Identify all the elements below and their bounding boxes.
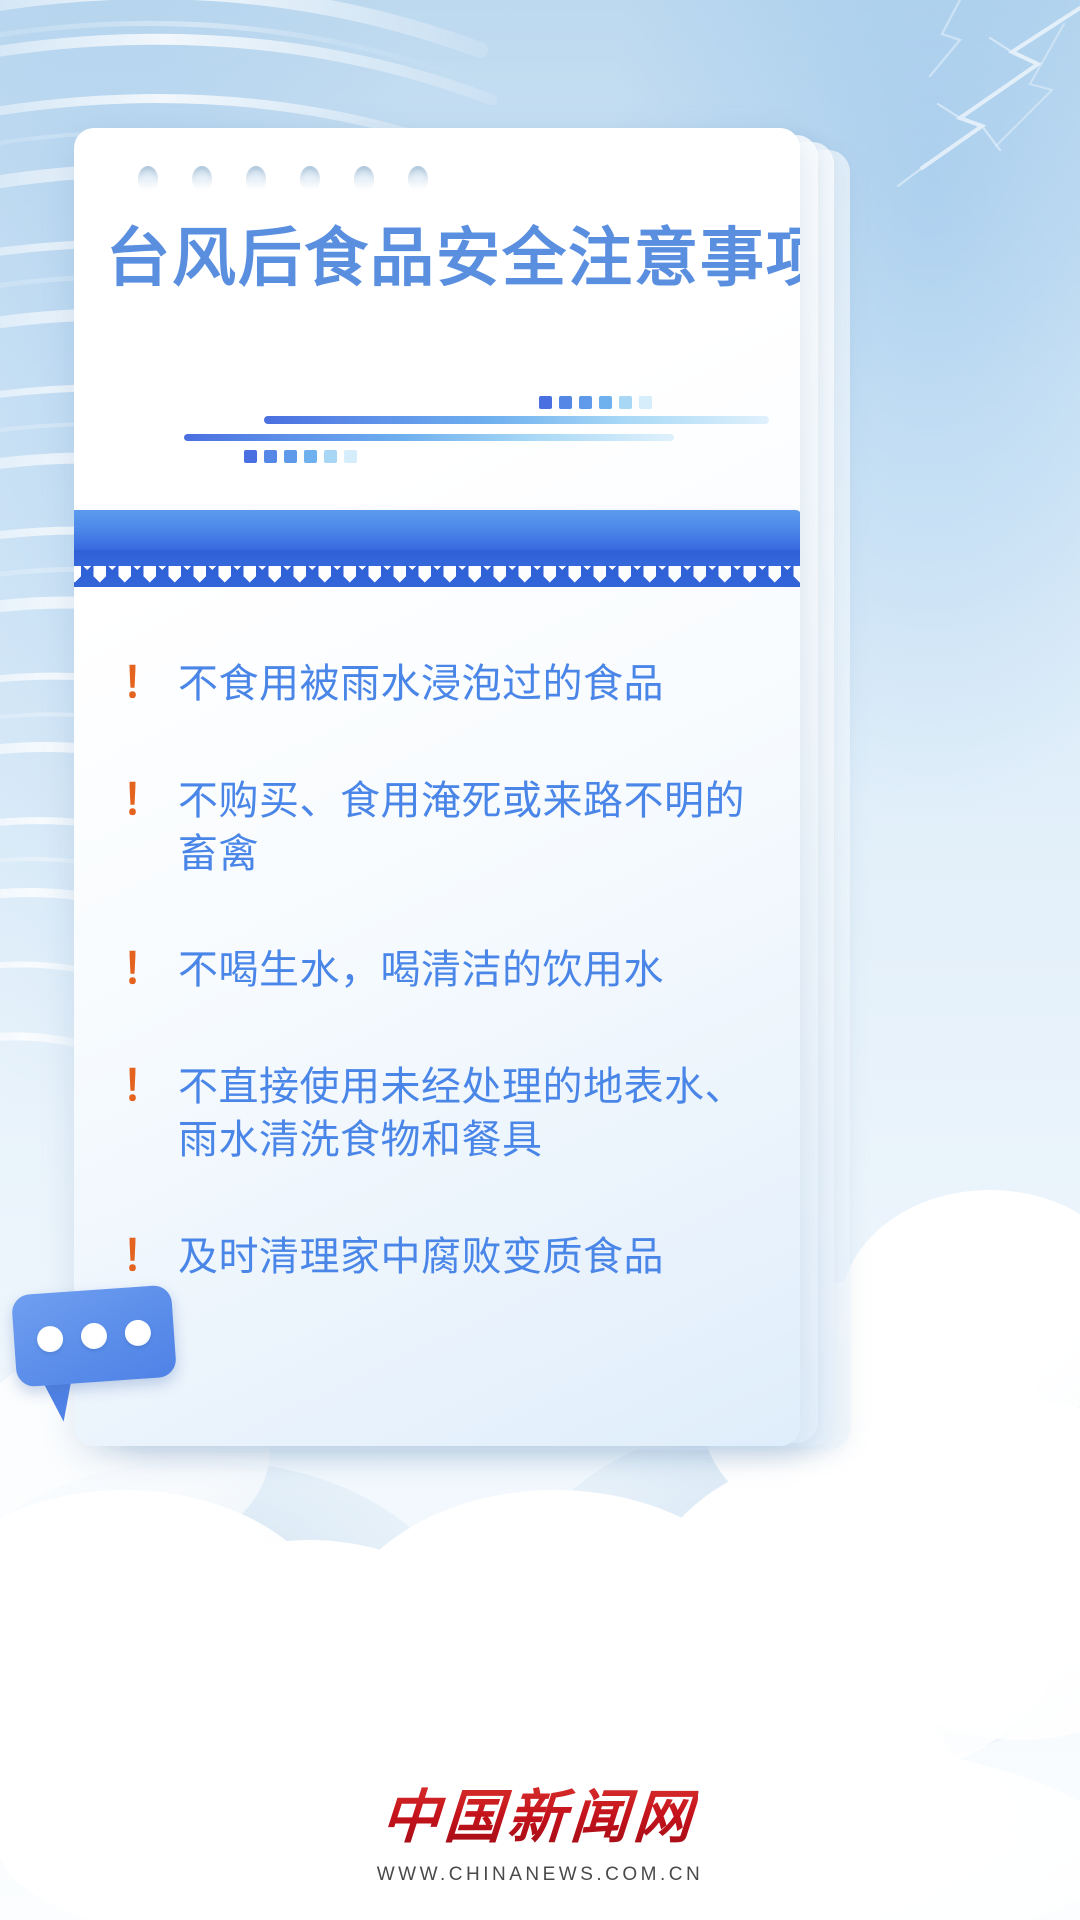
tip-text: 及时清理家中腐败变质食品	[178, 1231, 664, 1284]
list-item: ！ 不喝生水，喝清洁的饮用水	[122, 944, 782, 997]
decor-squares-top	[539, 396, 652, 409]
tip-line: 不食用被雨水浸泡过的食品	[178, 662, 664, 706]
decor-line-bottom	[184, 434, 674, 441]
list-item: ！ 不直接使用未经处理的地表水、 雨水清洗食物和餐具	[122, 1061, 782, 1167]
list-item: ！ 不食用被雨水浸泡过的食品	[122, 658, 782, 711]
punch-hole-icon	[408, 166, 428, 192]
decor-squares-bottom	[244, 450, 357, 463]
warning-icon: ！	[122, 944, 164, 994]
punch-hole-icon	[138, 166, 158, 192]
list-item: ！ 及时清理家中腐败变质食品	[122, 1231, 782, 1284]
tips-list: ！ 不食用被雨水浸泡过的食品 ！ 不购买、食用淹死或来路不明的畜禽 ！ 不喝生水…	[122, 658, 782, 1284]
punch-hole-icon	[354, 166, 374, 192]
punch-hole-icon	[192, 166, 212, 192]
bubble-dot-icon	[124, 1319, 152, 1347]
list-item: ！ 不购买、食用淹死或来路不明的畜禽	[122, 775, 782, 881]
title-decoration	[74, 394, 800, 470]
warning-icon: ！	[122, 775, 164, 825]
footer-url: WWW.CHINANEWS.COM.CN	[0, 1864, 1080, 1886]
tip-text: 不食用被雨水浸泡过的食品	[178, 658, 664, 711]
warning-icon: ！	[122, 658, 164, 708]
punch-holes	[138, 166, 428, 192]
bubble-dot-icon	[80, 1322, 108, 1350]
speech-bubble-icon	[8, 1282, 188, 1422]
tip-line: 雨水清洗食物和餐具	[178, 1114, 745, 1167]
blue-bar-shadow	[74, 550, 800, 566]
chinanews-logo: 中国新闻网	[380, 1770, 701, 1854]
warning-icon: ！	[122, 1231, 164, 1281]
blue-bar	[74, 510, 800, 552]
footer: 中国新闻网 WWW.CHINANEWS.COM.CN	[0, 1770, 1080, 1886]
speech-bubble-dots	[13, 1317, 174, 1354]
tip-text: 不喝生水，喝清洁的饮用水	[178, 944, 664, 997]
tip-text: 不直接使用未经处理的地表水、 雨水清洗食物和餐具	[178, 1061, 745, 1167]
tip-line: 不喝生水，喝清洁的饮用水	[178, 948, 664, 992]
card-stack: 台风后食品安全注意事项 ！ 不食用被雨水浸	[74, 128, 844, 1458]
decor-line-top	[264, 416, 769, 424]
page-title: 台风后食品安全注意事项	[106, 226, 800, 290]
tip-text: 不购买、食用淹死或来路不明的畜禽	[178, 775, 782, 881]
tip-line: 及时清理家中腐败变质食品	[178, 1235, 664, 1279]
poster-card: 台风后食品安全注意事项 ！ 不食用被雨水浸	[74, 128, 800, 1446]
warning-icon: ！	[122, 1061, 164, 1111]
speech-bubble-body	[11, 1285, 177, 1388]
tip-line: 不购买、食用淹死或来路不明的畜禽	[178, 779, 745, 876]
punch-hole-icon	[300, 166, 320, 192]
tip-line: 不直接使用未经处理的地表水、	[178, 1065, 745, 1109]
blue-divider	[74, 510, 800, 587]
zigzag-edge	[74, 565, 800, 587]
punch-hole-icon	[246, 166, 266, 192]
bubble-dot-icon	[36, 1325, 64, 1353]
